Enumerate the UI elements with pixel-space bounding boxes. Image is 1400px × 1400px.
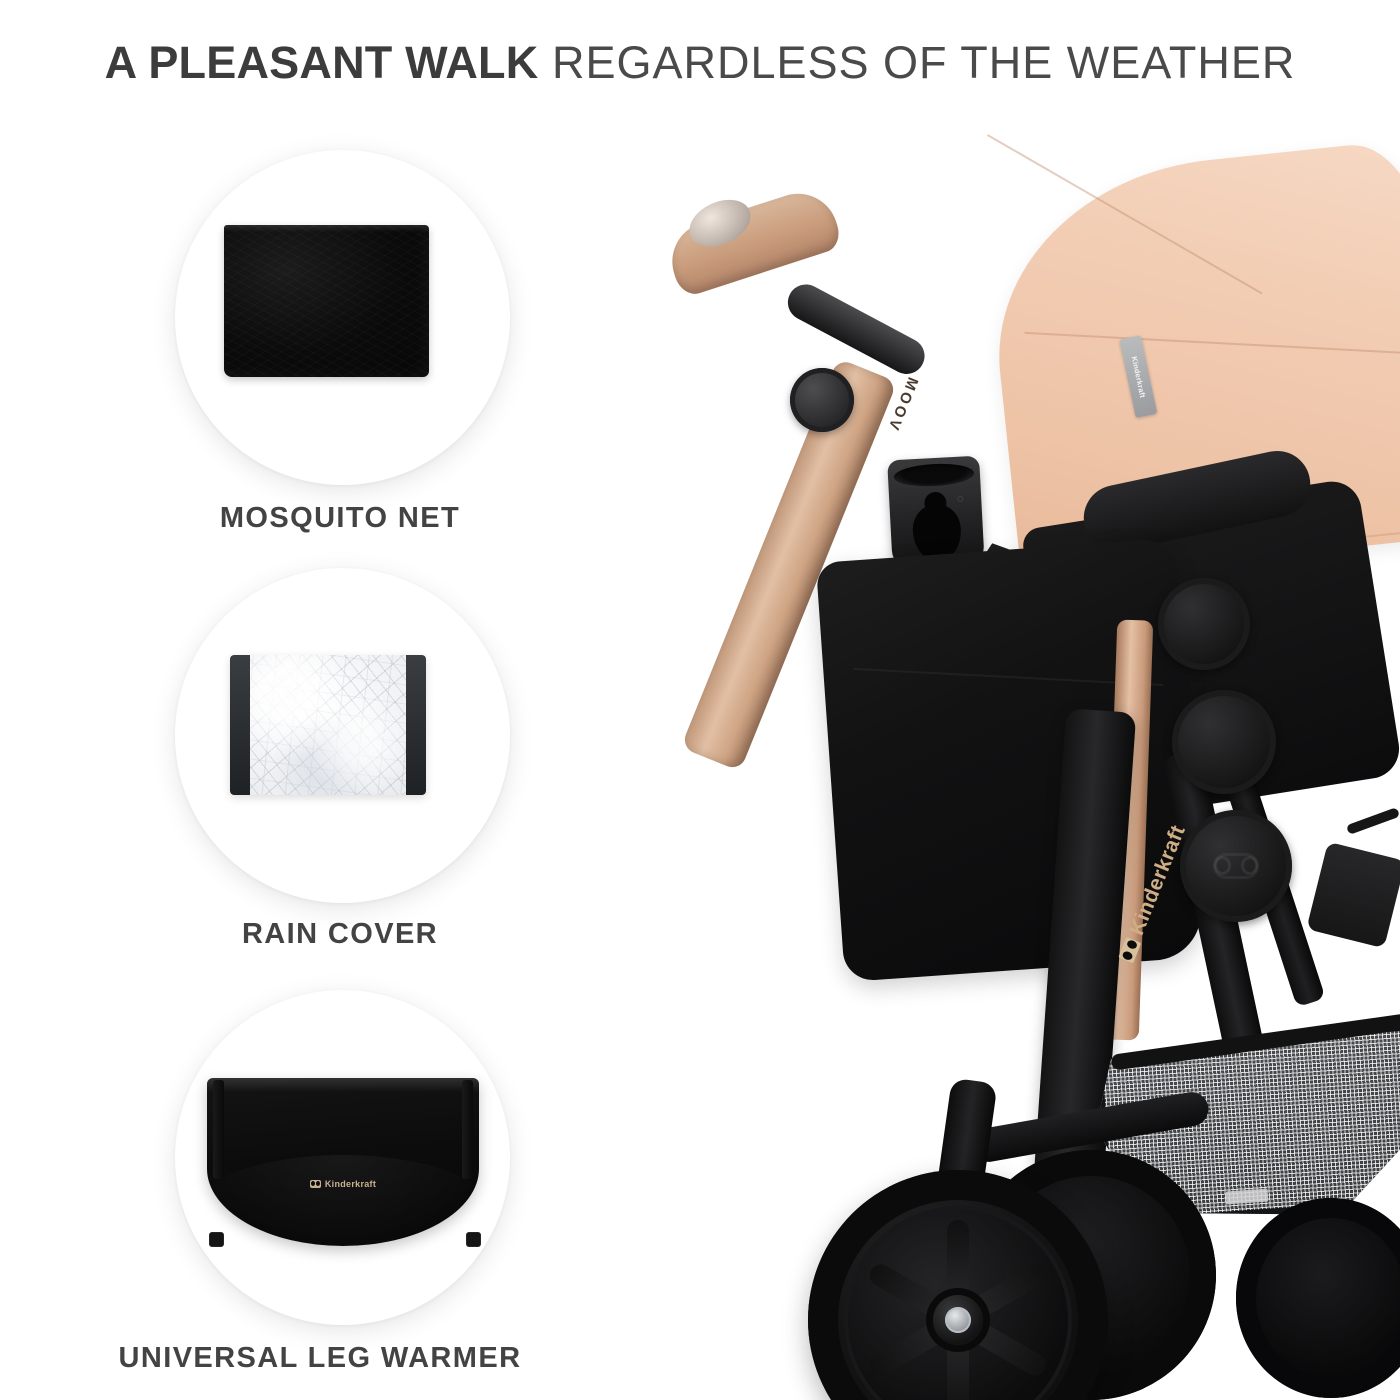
rain-cover-image: [230, 655, 426, 795]
strap-clip-left: [209, 1232, 224, 1247]
frame-joint-hub-middle: [1172, 690, 1276, 794]
handlebar-adjust-button[interactable]: [790, 368, 854, 432]
canopy-seam: [1025, 332, 1400, 356]
canopy-brand-tag-text: Kinderkraft: [1130, 355, 1148, 398]
stroller-product-photo: Kinderkraft MOOV ○ Kinderkraft: [640, 150, 1400, 1380]
accessory-label-leg-warmer: UNIVERSAL LEG WARMER: [0, 1342, 640, 1375]
frame-joint-hub-lower: [1180, 810, 1292, 922]
page-title: A PLEASANT WALK REGARDLESS OF THE WEATHE…: [0, 40, 1400, 85]
accessory-label-rain-cover: RAIN COVER: [60, 918, 620, 951]
brake-lever[interactable]: [1346, 807, 1400, 835]
page-title-light: REGARDLESS OF THE WEATHER: [538, 37, 1295, 88]
hubcap-center-icon: [945, 1307, 971, 1333]
rain-cover-right-edge: [406, 655, 426, 795]
wheel-hubcap: [933, 1295, 983, 1345]
rear-wheel-far: [1236, 1198, 1400, 1398]
canopy-brand-tag: Kinderkraft: [1119, 335, 1157, 418]
drawstring-right: [462, 1080, 473, 1179]
handlebar-grip-end: [662, 183, 844, 298]
cup-holder-rim: [893, 462, 974, 488]
kinderkraft-emboss-icon: [1213, 853, 1259, 879]
fabric-fold-highlight: [224, 225, 429, 232]
strap-clip-right: [466, 1232, 481, 1247]
rain-cover-left-edge: [230, 655, 250, 795]
product-feature-graphic: A PLEASANT WALK REGARDLESS OF THE WEATHE…: [0, 0, 1400, 1400]
page-title-bold: A PLEASANT WALK: [105, 37, 539, 88]
drawstring-left: [213, 1080, 224, 1179]
mosquito-net-image: [224, 225, 429, 377]
kinderkraft-wordmark: Kinderkraft: [325, 1179, 376, 1189]
kinderkraft-logo-leg-warmer: Kinderkraft: [207, 1179, 479, 1189]
kinderkraft-mark-icon: [310, 1180, 321, 1188]
cup-holder-emboss-icon: ○: [956, 491, 965, 506]
accessory-label-mosquito-net: MOSQUITO NET: [60, 502, 620, 535]
frame-joint-hub-upper: [1158, 578, 1250, 670]
brake-mechanism[interactable]: [1306, 842, 1400, 949]
canopy-seam: [987, 134, 1262, 294]
leg-warmer-image: Kinderkraft: [207, 1078, 479, 1246]
